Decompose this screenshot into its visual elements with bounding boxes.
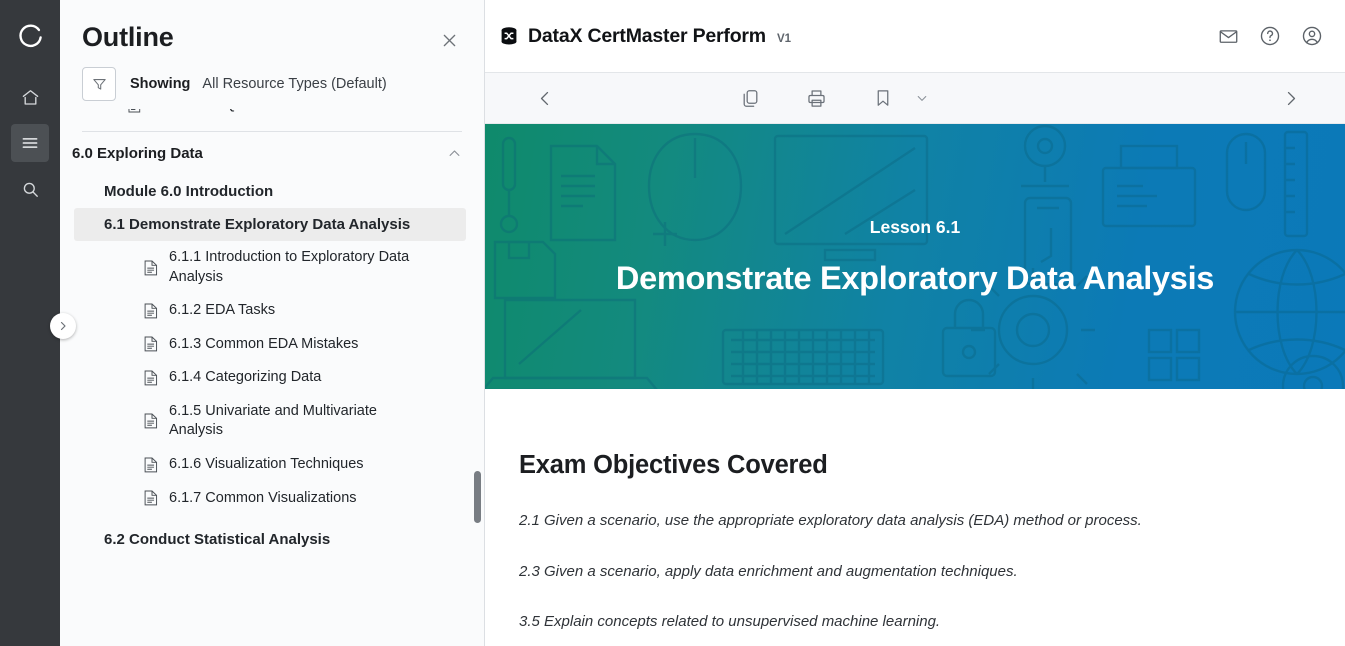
question-circle-icon — [1259, 25, 1281, 47]
sidebar-item-search[interactable] — [11, 170, 49, 208]
outline-scroll-area: 5.1 Module Quiz 6.0 Exploring Data Modul… — [60, 109, 484, 646]
document-icon — [144, 413, 158, 429]
chevron-up-icon[interactable] — [447, 146, 462, 161]
copy-icon — [740, 88, 761, 109]
document-icon — [144, 457, 158, 473]
app-version: V1 — [777, 33, 791, 45]
objective-line: 3.5 Explain concepts related to unsuperv… — [519, 612, 1305, 632]
list-item-label: 6.1.1 Introduction to Exploratory Data A… — [169, 248, 419, 287]
sidebar-item-outline[interactable] — [11, 124, 49, 162]
document-icon — [144, 370, 158, 386]
list-item[interactable]: 6.1.6 Visualization Techniques — [60, 448, 484, 482]
exam-objectives-heading: Exam Objectives Covered — [519, 451, 1305, 480]
list-item-label: 6.1.4 Categorizing Data — [169, 368, 321, 388]
filter-value[interactable]: All Resource Types (Default) — [202, 76, 386, 92]
outline-item-6-2[interactable]: 6.2 Conduct Statistical Analysis — [74, 523, 466, 556]
chevron-left-icon — [536, 89, 555, 108]
left-nav-rail — [0, 0, 60, 646]
outline-panel: Outline Showing All Resource Types (Defa… — [60, 0, 485, 646]
list-item[interactable]: 6.1.5 Univariate and Multivariate Analys… — [60, 395, 484, 448]
hamburger-menu-icon — [20, 133, 40, 153]
sidebar-item-home[interactable] — [11, 78, 49, 116]
banner-lesson-label: Lesson 6.1 — [870, 217, 960, 238]
list-item-label: 6.1.5 Univariate and Multivariate Analys… — [169, 402, 419, 441]
account-button[interactable] — [1299, 23, 1325, 49]
lesson-banner: Lesson 6.1 Demonstrate Exploratory Data … — [485, 124, 1345, 389]
outline-scrollbar-thumb[interactable] — [474, 471, 481, 523]
banner-tech-pattern — [485, 124, 1345, 389]
print-button[interactable] — [804, 85, 830, 111]
outline-clipped-item[interactable]: 5.1 Module Quiz — [60, 109, 484, 131]
outline-clipped-item-label: 5.1 Module Quiz — [149, 109, 255, 113]
toolbar-buttons — [738, 85, 932, 111]
close-icon — [440, 31, 459, 50]
lesson-body: Exam Objectives Covered 2.1 Given a scen… — [485, 389, 1345, 646]
app-title: DataX CertMaster Perform — [528, 25, 766, 48]
filter-showing-label: Showing — [130, 76, 190, 92]
document-icon — [144, 336, 158, 352]
list-item[interactable]: 6.1.7 Common Visualizations — [60, 482, 484, 516]
outline-header: Outline — [60, 0, 484, 53]
outline-section-label: 6.0 Exploring Data — [72, 145, 203, 162]
list-item-label: 6.1.3 Common EDA Mistakes — [169, 335, 358, 355]
list-item[interactable]: 6.1.2 EDA Tasks — [60, 294, 484, 328]
user-circle-icon — [1301, 25, 1323, 47]
banner-title: Demonstrate Exploratory Data Analysis — [616, 260, 1214, 297]
filter-button[interactable] — [82, 67, 116, 101]
lesson-toolbar — [485, 73, 1345, 124]
list-item-label: Module 6.0 Introduction — [104, 183, 273, 200]
document-icon — [144, 490, 158, 506]
list-item-label: 6.1 Demonstrate Exploratory Data Analysi… — [104, 216, 410, 233]
list-item-label: 6.1.2 EDA Tasks — [169, 301, 275, 321]
search-icon — [21, 180, 40, 199]
bookmark-icon — [873, 88, 893, 108]
objective-line: 2.3 Given a scenario, apply data enrichm… — [519, 562, 1305, 582]
expand-rail-button[interactable] — [50, 313, 76, 339]
list-item-label: 6.2 Conduct Statistical Analysis — [104, 531, 330, 548]
document-icon — [144, 303, 158, 319]
help-button[interactable] — [1257, 23, 1283, 49]
funnel-filter-icon — [91, 76, 108, 93]
outline-section-header[interactable]: 6.0 Exploring Data — [60, 132, 484, 175]
document-icon — [128, 109, 141, 113]
chevron-right-icon — [57, 320, 69, 332]
list-item[interactable]: 6.1.4 Categorizing Data — [60, 361, 484, 395]
chevron-right-icon — [1281, 89, 1300, 108]
main-content: DataX CertMaster Perform V1 — [485, 0, 1345, 646]
mail-button[interactable] — [1215, 23, 1241, 49]
list-item-label: 6.1.7 Common Visualizations — [169, 489, 357, 509]
envelope-icon — [1218, 26, 1239, 47]
bookmark-button[interactable] — [870, 85, 896, 111]
printer-icon — [806, 88, 827, 109]
copy-button[interactable] — [738, 85, 764, 111]
database-shuffle-logo-icon — [499, 26, 519, 46]
document-icon — [144, 260, 158, 276]
next-page-button[interactable] — [1265, 89, 1317, 108]
filter-row: Showing All Resource Types (Default) — [60, 53, 484, 101]
bookmark-options-button[interactable] — [912, 88, 932, 108]
list-item[interactable]: 6.1.3 Common EDA Mistakes — [60, 328, 484, 362]
chevron-down-icon — [915, 91, 929, 105]
outline-item-module-intro[interactable]: Module 6.0 Introduction — [74, 175, 466, 208]
list-item[interactable]: 6.1.1 Introduction to Exploratory Data A… — [60, 241, 484, 294]
list-item-label: 6.1.6 Visualization Techniques — [169, 455, 364, 475]
outline-scrollbar-track[interactable] — [473, 109, 481, 646]
header-actions — [1215, 23, 1325, 49]
home-icon — [21, 88, 40, 107]
page-title: Outline — [82, 22, 174, 53]
previous-page-button[interactable] — [519, 89, 571, 108]
outline-item-6-1-selected[interactable]: 6.1 Demonstrate Exploratory Data Analysi… — [74, 208, 466, 241]
objective-line: 2.1 Given a scenario, use the appropriat… — [519, 511, 1305, 531]
brand: DataX CertMaster Perform V1 — [499, 25, 791, 48]
c-logo-icon[interactable] — [8, 14, 52, 58]
app-root: Outline Showing All Resource Types (Defa… — [0, 0, 1345, 646]
close-outline-button[interactable] — [436, 27, 462, 53]
app-header: DataX CertMaster Perform V1 — [485, 0, 1345, 73]
